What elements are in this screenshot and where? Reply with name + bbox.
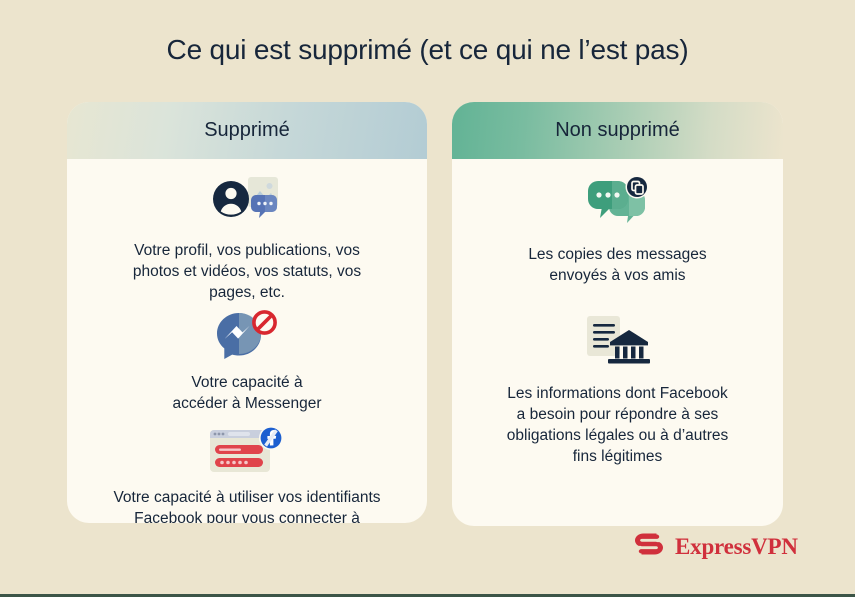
card-deleted-header-label: Supprimé	[204, 119, 290, 142]
card-not-deleted-body: Les copies des messages envoyés à vos am…	[452, 175, 783, 467]
card-deleted-body: Votre profil, vos publications, vos phot…	[67, 173, 427, 523]
page-title: Ce qui est supprimé (et ce qui ne l’est …	[0, 34, 855, 66]
expressvpn-logo-icon	[632, 529, 666, 564]
legal-document-institution-icon	[579, 312, 657, 371]
list-item: Les informations dont Facebook a besoin …	[470, 312, 765, 467]
list-item-text: Les informations dont Facebook a besoin …	[507, 383, 728, 467]
list-item: Les copies des messages envoyés à vos am…	[470, 175, 765, 286]
card-not-deleted-header-label: Non supprimé	[555, 119, 680, 142]
login-credentials-blocked-icon	[204, 424, 290, 481]
list-item: Votre capacité à accéder à Messenger	[85, 309, 409, 414]
messenger-blocked-icon	[211, 309, 283, 366]
profile-photo-chat-icon	[208, 173, 286, 232]
list-item-text: Votre profil, vos publications, vos phot…	[133, 240, 361, 303]
list-item-text: Les copies des messages envoyés à vos am…	[528, 244, 706, 286]
expressvpn-logo: ExpressVPN	[632, 529, 798, 564]
list-item: Votre profil, vos publications, vos phot…	[85, 173, 409, 303]
message-copies-icon	[582, 175, 654, 232]
infographic-page: Ce qui est supprimé (et ce qui ne l’est …	[0, 0, 855, 597]
card-deleted-header: Supprimé	[67, 102, 427, 159]
list-item-text: Votre capacité à utiliser vos identifian…	[113, 487, 380, 523]
list-item: Votre capacité à utiliser vos identifian…	[85, 424, 409, 523]
card-not-deleted: Non supprimé	[452, 102, 783, 526]
card-not-deleted-header: Non supprimé	[452, 102, 783, 159]
list-item-text: Votre capacité à accéder à Messenger	[172, 372, 321, 414]
card-deleted: Supprimé	[67, 102, 427, 523]
expressvpn-brand-label: ExpressVPN	[675, 534, 798, 560]
